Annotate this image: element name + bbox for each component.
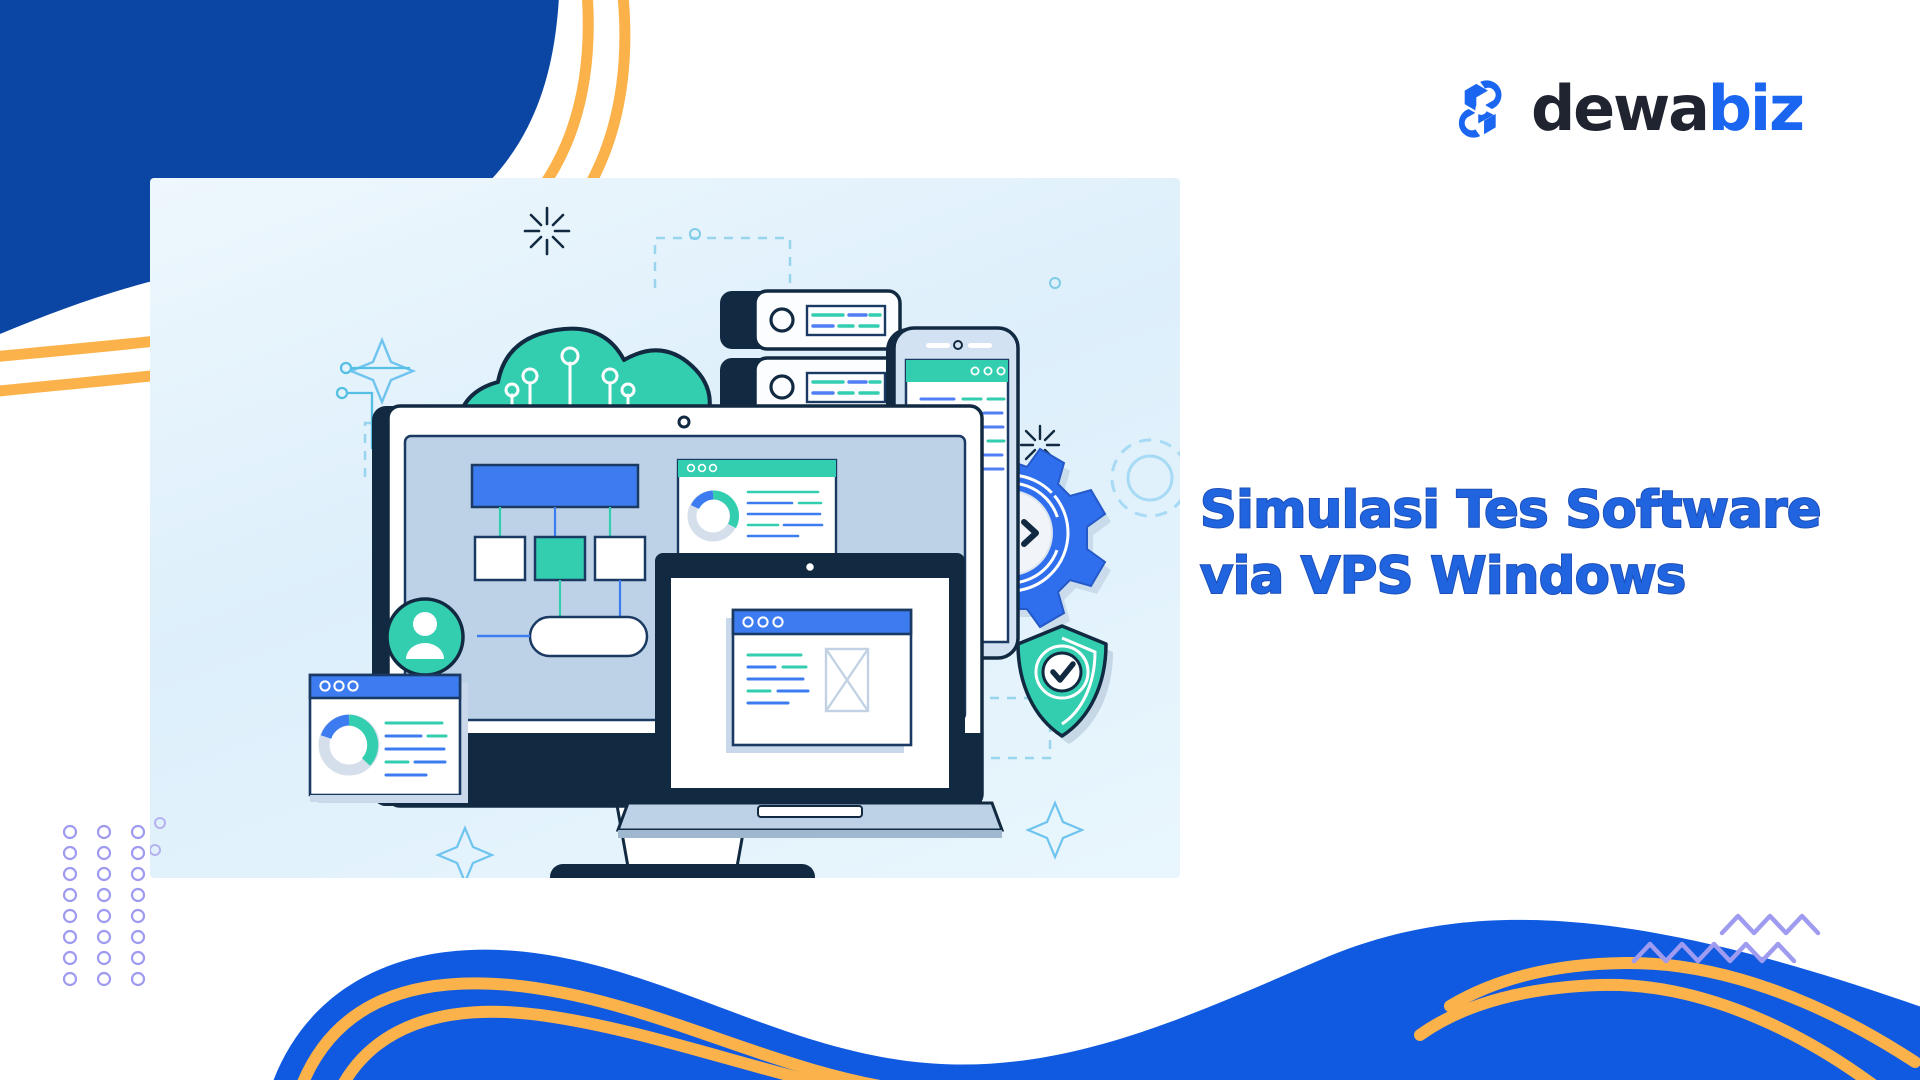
logo-text-biz: biz bbox=[1708, 72, 1803, 145]
zigzag-line-bottom bbox=[1634, 944, 1794, 961]
zigzag-lines bbox=[1634, 916, 1818, 961]
dewabiz-logo-mark bbox=[1455, 78, 1517, 140]
outline-gear-icon-3 bbox=[1112, 440, 1180, 516]
orange-curve-bottom-1 bbox=[300, 983, 905, 1080]
page-title: Simulasi Tes Software via VPS Windows bbox=[1200, 478, 1860, 611]
title-line-2: via VPS Windows bbox=[1200, 544, 1860, 610]
server-unit bbox=[720, 291, 900, 349]
floating-analytics-window bbox=[310, 675, 468, 803]
orange-curve-bottom-4 bbox=[1450, 963, 1915, 1062]
orange-curve-bottom-2 bbox=[340, 1012, 900, 1080]
logo-text-dewa: dewa bbox=[1531, 72, 1708, 145]
dot-grid-pattern bbox=[64, 826, 144, 985]
hero-illustration bbox=[150, 178, 1180, 878]
blue-wave-shape bbox=[270, 920, 1920, 1080]
user-avatar-badge bbox=[387, 599, 463, 675]
security-shield-check-icon bbox=[1018, 626, 1113, 744]
burst-star-icon bbox=[525, 208, 569, 254]
title-line-1: Simulasi Tes Software bbox=[1200, 478, 1860, 544]
logo-wordmark: dewabiz bbox=[1531, 78, 1803, 140]
laptop-browser-window bbox=[618, 553, 1002, 838]
poster-canvas: dewabiz Simulasi Tes Software via VPS Wi… bbox=[0, 0, 1920, 1080]
brand-logo[interactable]: dewabiz bbox=[1455, 78, 1803, 140]
zigzag-line-top bbox=[1722, 916, 1818, 933]
orange-curve-bottom-3 bbox=[1420, 985, 1880, 1080]
